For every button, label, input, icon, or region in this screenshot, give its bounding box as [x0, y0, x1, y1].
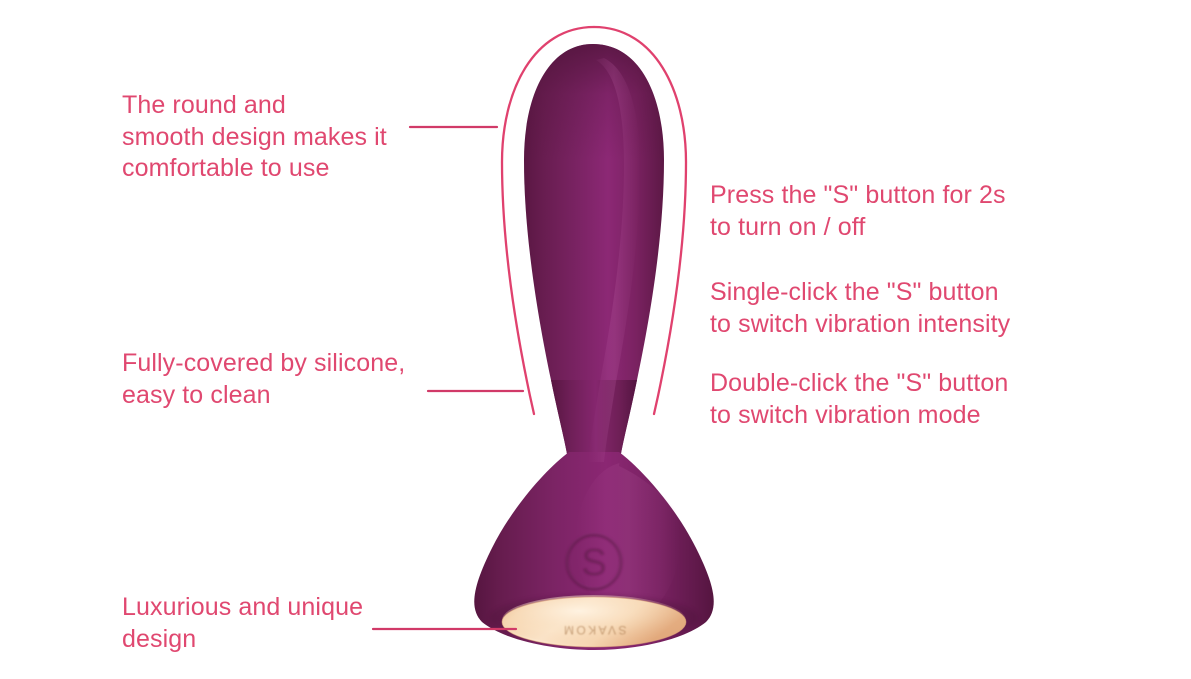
callout-luxurious-design: Luxurious and unique design: [122, 592, 482, 655]
infographic-canvas: S SVAKOM The round and smooth design mak…: [0, 0, 1191, 679]
callout-vibration-intensity: Single-click the "S" button to switch vi…: [710, 277, 1090, 340]
product-outline-contour: [502, 27, 686, 414]
power-button-glyph: S: [581, 542, 606, 584]
power-button-s[interactable]: S: [567, 533, 621, 589]
gold-base-plate: SVAKOM: [502, 595, 686, 647]
callout-power-button: Press the "S" button for 2s to turn on /…: [710, 180, 1070, 243]
product-body: [474, 40, 713, 650]
base-engraving-text: SVAKOM: [562, 623, 627, 637]
callout-round-design: The round and smooth design makes it com…: [122, 90, 482, 185]
callout-vibration-mode: Double-click the "S" button to switch vi…: [710, 368, 1090, 431]
callout-silicone: Fully-covered by silicone, easy to clean: [122, 348, 482, 411]
